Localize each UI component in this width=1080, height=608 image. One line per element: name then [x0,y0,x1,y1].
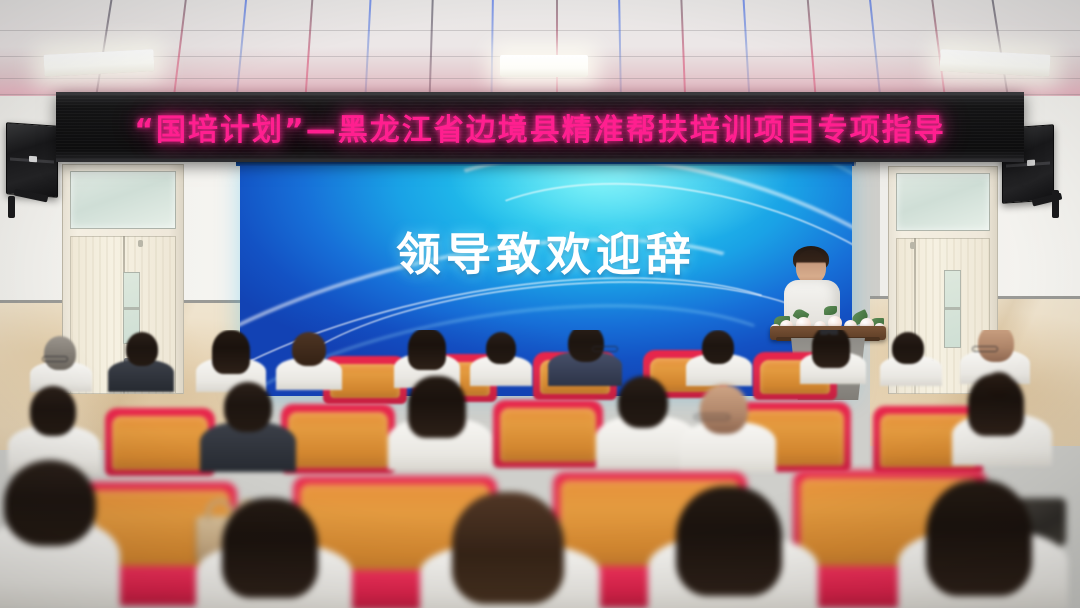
led-banner: “国培计划”—黑龙江省边境县精准帮扶培训项目专项指导 [56,92,1024,162]
transom-window-left [70,171,176,229]
ceiling [0,0,1080,104]
transom-window-right [896,173,990,231]
ceiling-lamp-left [43,49,154,77]
audience-seating [0,330,1080,608]
led-banner-text: “国培计划”—黑龙江省边境县精准帮扶培训项目专项指导 [56,105,1024,149]
ceiling-lamp-center [500,55,588,77]
hair-bow [820,330,838,335]
ceiling-lamp-right [939,49,1050,77]
loudspeaker-left-icon [6,122,58,198]
presenter-head [796,250,826,284]
conference-hall-scene: 领导致欢迎辞 “国培计划”—黑龙江省边境县精准帮扶培训项目专项指导 [0,0,1080,608]
